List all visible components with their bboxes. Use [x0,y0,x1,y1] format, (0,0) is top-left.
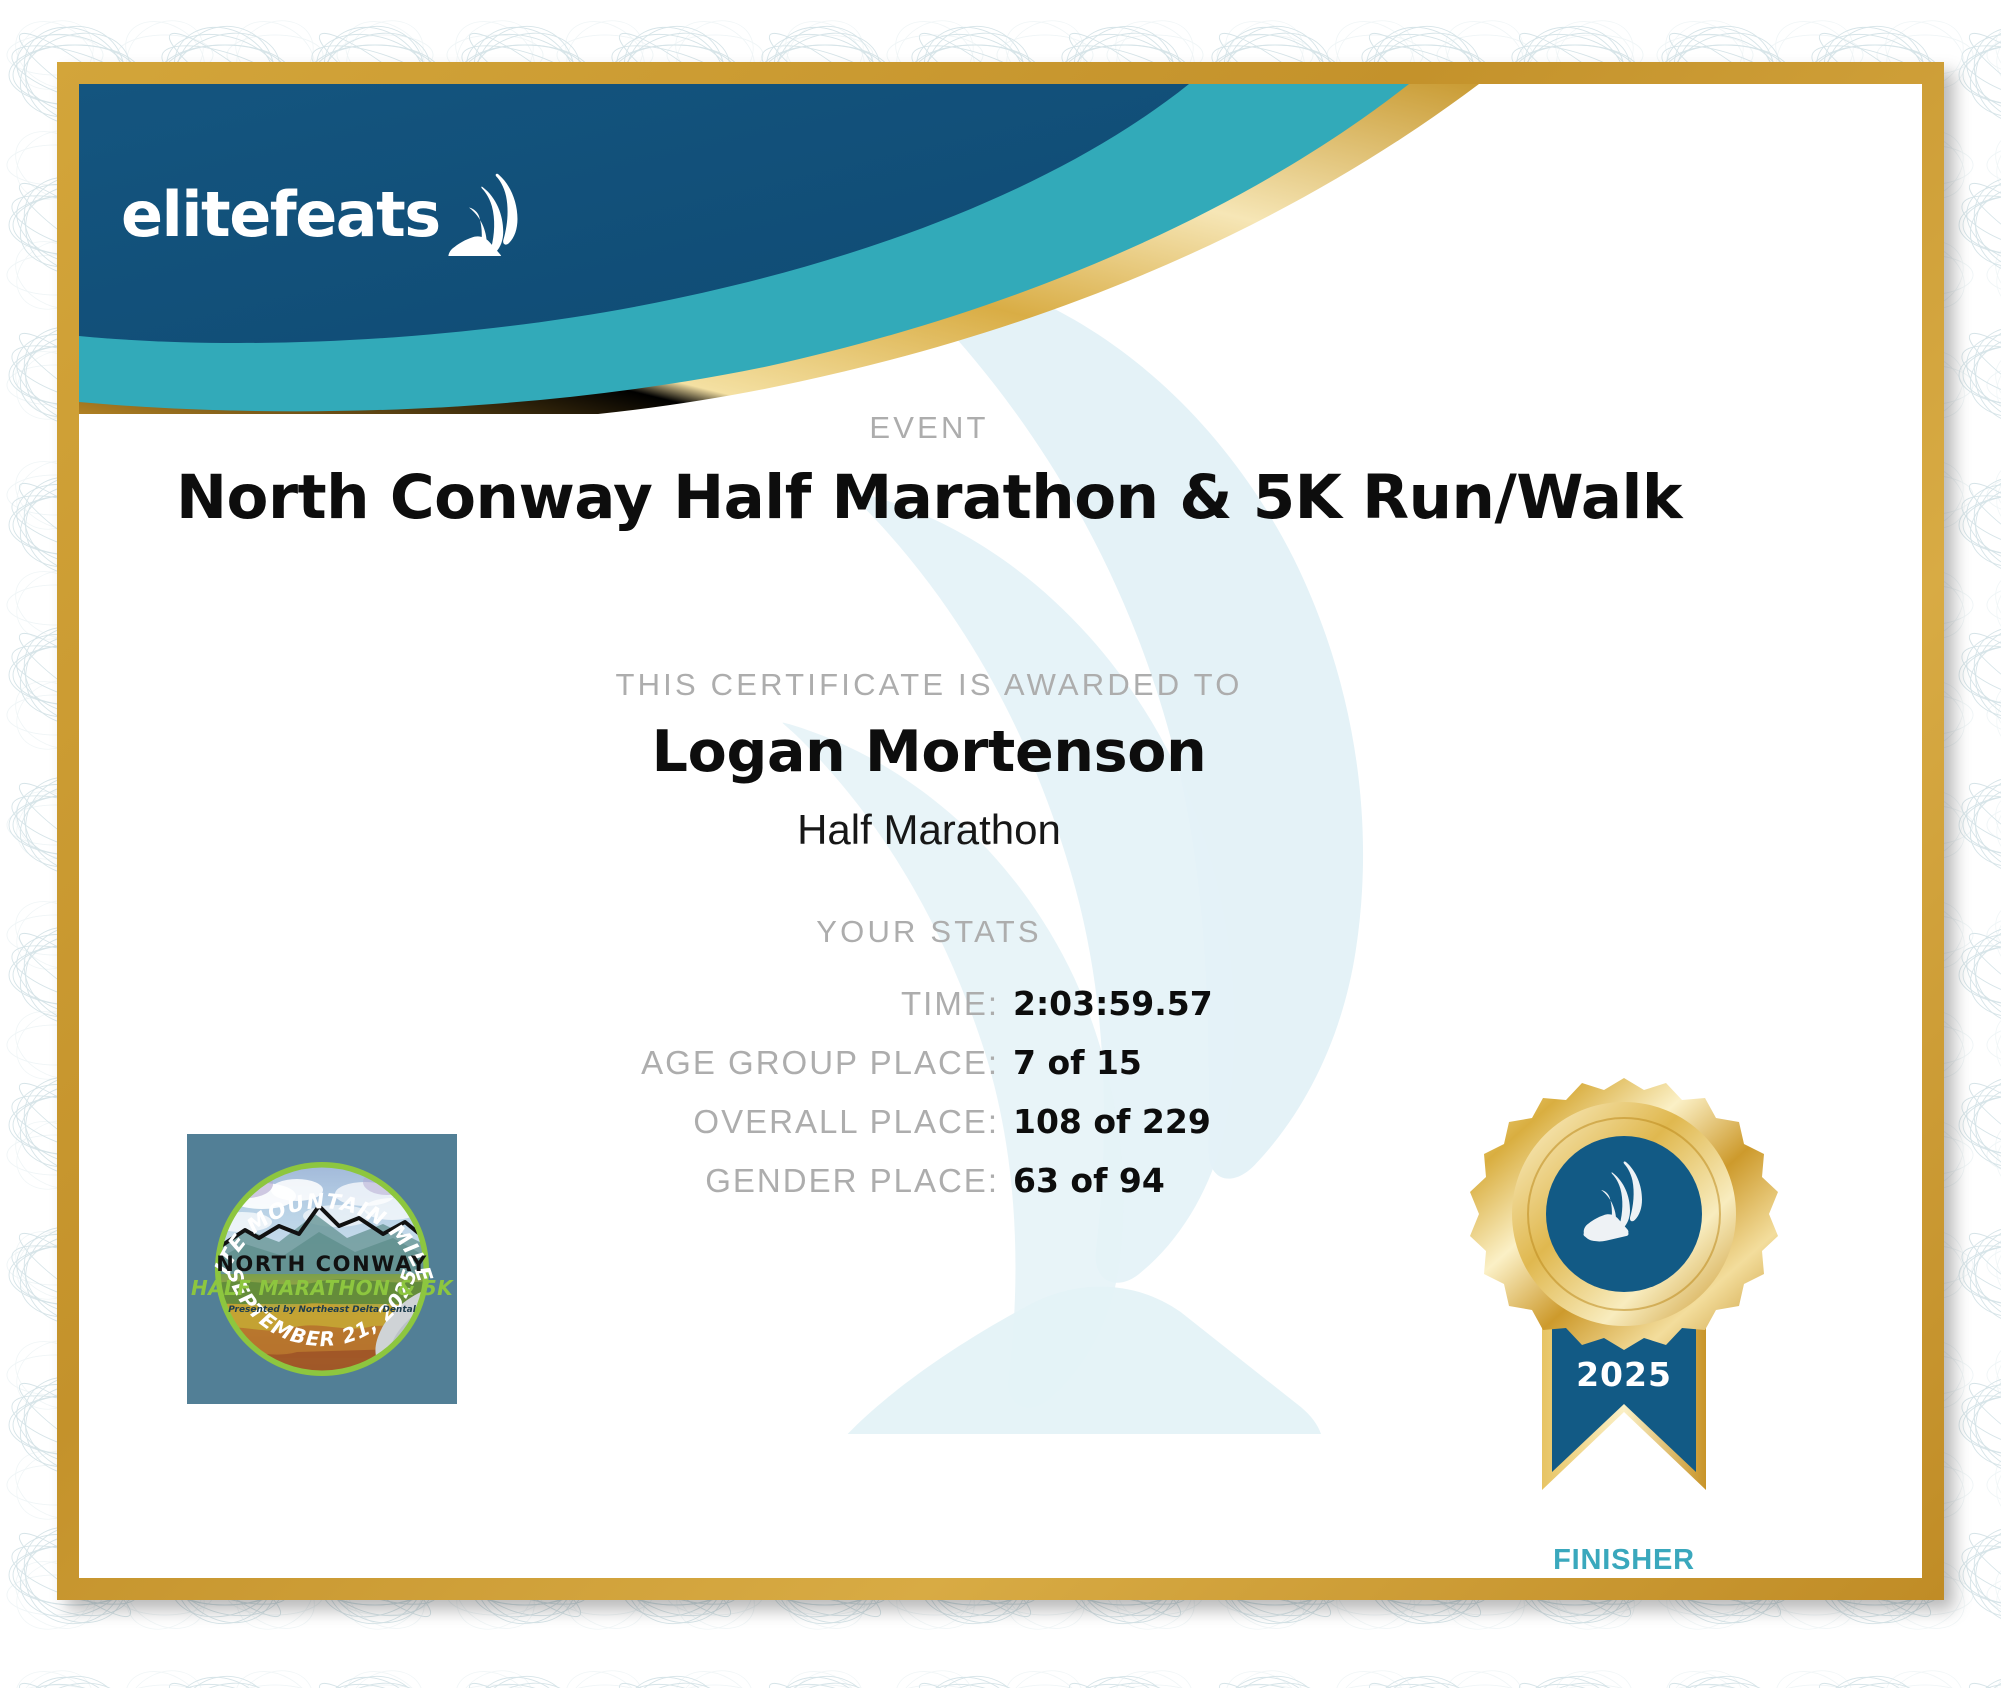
race-logo-line1: NORTH CONWAY [216,1252,428,1276]
race-logo-presented-by: Presented by Northeast Delta Dental [228,1305,417,1315]
your-stats-label: YOUR STATS [79,914,1779,950]
medal-caption-line2: CERTIFICATE [1464,1576,1784,1578]
recipient-division: Half Marathon [79,806,1779,854]
stat-value-age-group-place: 7 of 15 [1013,1043,1142,1082]
event-title: North Conway Half Marathon & 5K Run/Walk [79,462,1779,533]
winged-foot-icon [446,172,532,256]
medal-caption-line1: FINISHER [1464,1544,1784,1576]
certificate-body: EVENT North Conway Half Marathon & 5K Ru… [79,414,1922,1578]
stat-label-age-group-place: AGE GROUP PLACE: [79,1044,999,1082]
elitefeats-wordmark: elitefeats [121,178,440,251]
race-logo-line2: HALF MARATHON & 5K [191,1276,454,1300]
stat-row-time: TIME: 2:03:59.57 [79,984,1779,1023]
awarded-to-label: THIS CERTIFICATE IS AWARDED TO [79,667,1779,703]
medal-ribbon-year: 2025 [1576,1355,1672,1394]
stat-value-time: 2:03:59.57 [1013,984,1213,1023]
finisher-medal: 2025 [1464,1074,1784,1544]
certificate-inner-area: elitefeats EVENT North Conway Half Marat… [79,84,1922,1578]
certificate-frame: elitefeats EVENT North Conway Half Marat… [57,62,1944,1600]
stat-value-gender-place: 63 of 94 [1013,1161,1165,1200]
race-logo-badge: WHITE MOUNTAIN MILERS SEPTEMBER 21, 2025… [187,1134,457,1404]
stat-value-overall-place: 108 of 229 [1013,1102,1211,1141]
header-banner: elitefeats [79,84,1922,414]
stat-label-time: TIME: [79,985,999,1023]
event-label: EVENT [79,410,1779,446]
medal-caption: FINISHER CERTIFICATE [1464,1544,1784,1578]
elitefeats-logo: elitefeats [121,172,532,256]
recipient-name: Logan Mortenson [79,719,1779,785]
